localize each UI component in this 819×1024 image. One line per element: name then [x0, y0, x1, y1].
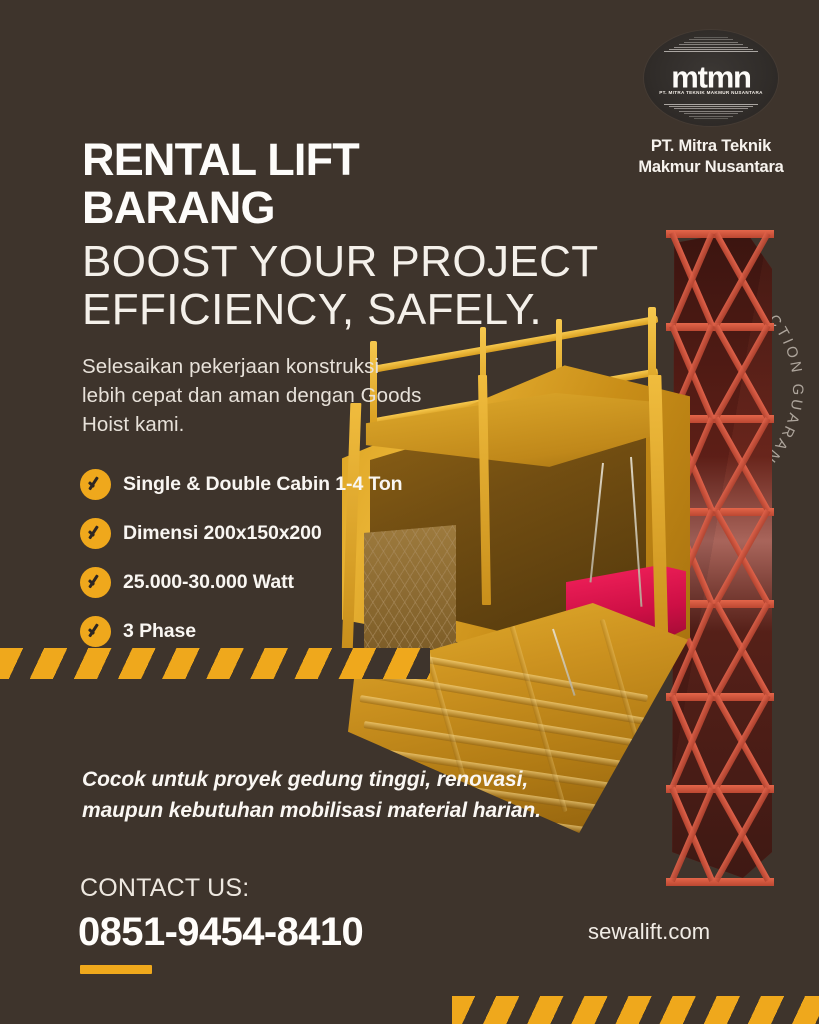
company-name-line2: Makmur Nusantara [635, 157, 787, 178]
headline-line-2: BARANG [82, 184, 602, 232]
feature-item: Dimensi 200x150x200 [80, 509, 480, 557]
headline-line-4: EFFICIENCY, SAFELY. [82, 286, 682, 334]
brand-logo-block: mtmn PT. MITRA TEKNIK MAKMUR NUSANTARA P… [635, 30, 787, 177]
feature-item: 3 Phase [80, 607, 480, 655]
hazard-stripe-band-bottom [452, 996, 819, 1024]
contact-us-label: CONTACT US: [80, 874, 249, 903]
feature-list: Single & Double Cabin 1-4 TonDimensi 200… [80, 460, 480, 656]
website-url[interactable]: sewalift.com [588, 919, 710, 945]
check-badge-icon [80, 518, 111, 549]
subtext-paragraph: Selesaikan pekerjaan konstruksi lebih ce… [82, 352, 422, 439]
platform-rib [359, 695, 644, 748]
headline-line-1: RENTAL LIFT [82, 136, 602, 184]
feature-label: Single & Double Cabin 1-4 Ton [123, 473, 403, 496]
platform-rib [363, 721, 643, 771]
check-badge-icon [80, 616, 111, 647]
contact-phone-number[interactable]: 0851-9454-8410 [78, 910, 363, 955]
logo-wordmark: mtmn [671, 61, 751, 92]
company-name-line1: PT. Mitra Teknik [635, 136, 787, 157]
poster-canvas: SATISFACTION GUARANTEED [0, 0, 819, 1024]
feature-label: 3 Phase [123, 620, 196, 643]
feature-item: 25.000-30.000 Watt [80, 558, 480, 606]
feature-item: Single & Double Cabin 1-4 Ton [80, 460, 480, 508]
feature-label: Dimensi 200x150x200 [123, 522, 322, 545]
headline-primary: RENTAL LIFT BARANG [82, 136, 602, 232]
feature-label: 25.000-30.000 Watt [123, 571, 294, 594]
headline-secondary: BOOST YOUR PROJECT EFFICIENCY, SAFELY. [82, 238, 682, 333]
company-name: PT. Mitra Teknik Makmur Nusantara [635, 136, 787, 177]
accent-underline-rule [80, 965, 152, 974]
logo-tagline: PT. MITRA TEKNIK MAKMUR NUSANTARA [659, 90, 762, 95]
mtmn-oval-logo-icon: mtmn PT. MITRA TEKNIK MAKMUR NUSANTARA [644, 30, 778, 126]
usecase-blurb: Cocok untuk proyek gedung tinggi, renova… [82, 765, 562, 826]
headline-line-3: BOOST YOUR PROJECT [82, 238, 682, 286]
check-badge-icon [80, 469, 111, 500]
check-badge-icon [80, 567, 111, 598]
